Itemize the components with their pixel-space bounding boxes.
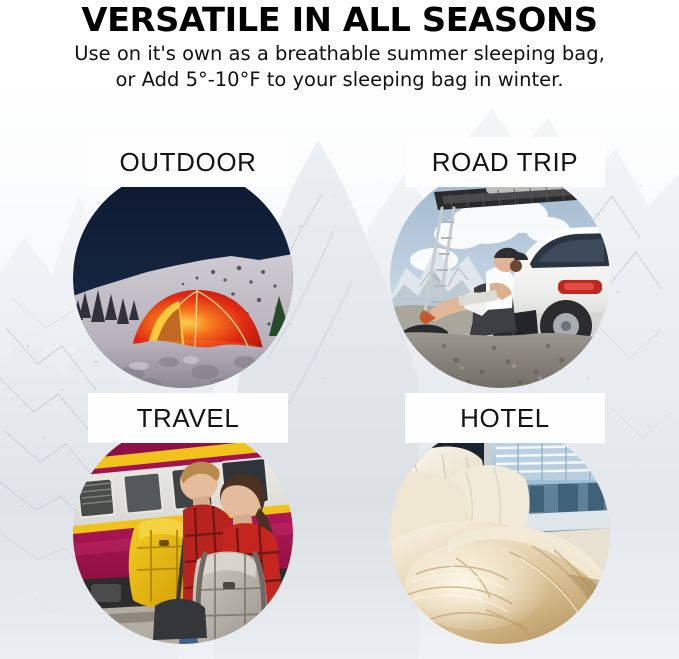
label-box-road-trip: ROAD TRIP xyxy=(405,137,605,187)
photo-road-trip-car-camp xyxy=(390,168,610,388)
label-travel: TRAVEL xyxy=(137,403,240,434)
label-box-hotel: HOTEL xyxy=(405,393,605,443)
photo-travel-backpackers-train xyxy=(73,424,293,644)
header: VERSATILE IN ALL SEASONS Use on it's own… xyxy=(0,0,679,93)
subtitle-line-1: Use on it's own as a breathable summer s… xyxy=(0,41,679,67)
product-infographic: VERSATILE IN ALL SEASONS Use on it's own… xyxy=(0,0,679,659)
photo-hotel-bed-by-window xyxy=(390,424,610,644)
label-box-travel: TRAVEL xyxy=(88,393,288,443)
photo-outdoor-red-tent-at-night xyxy=(73,168,293,388)
page-title: VERSATILE IN ALL SEASONS xyxy=(0,0,679,38)
label-outdoor: OUTDOOR xyxy=(119,147,256,178)
label-road-trip: ROAD TRIP xyxy=(432,147,579,178)
subtitle-line-2: or Add 5°-10°F to your sleeping bag in w… xyxy=(0,67,679,93)
label-box-outdoor: OUTDOOR xyxy=(88,137,288,187)
label-hotel: HOTEL xyxy=(460,403,550,434)
